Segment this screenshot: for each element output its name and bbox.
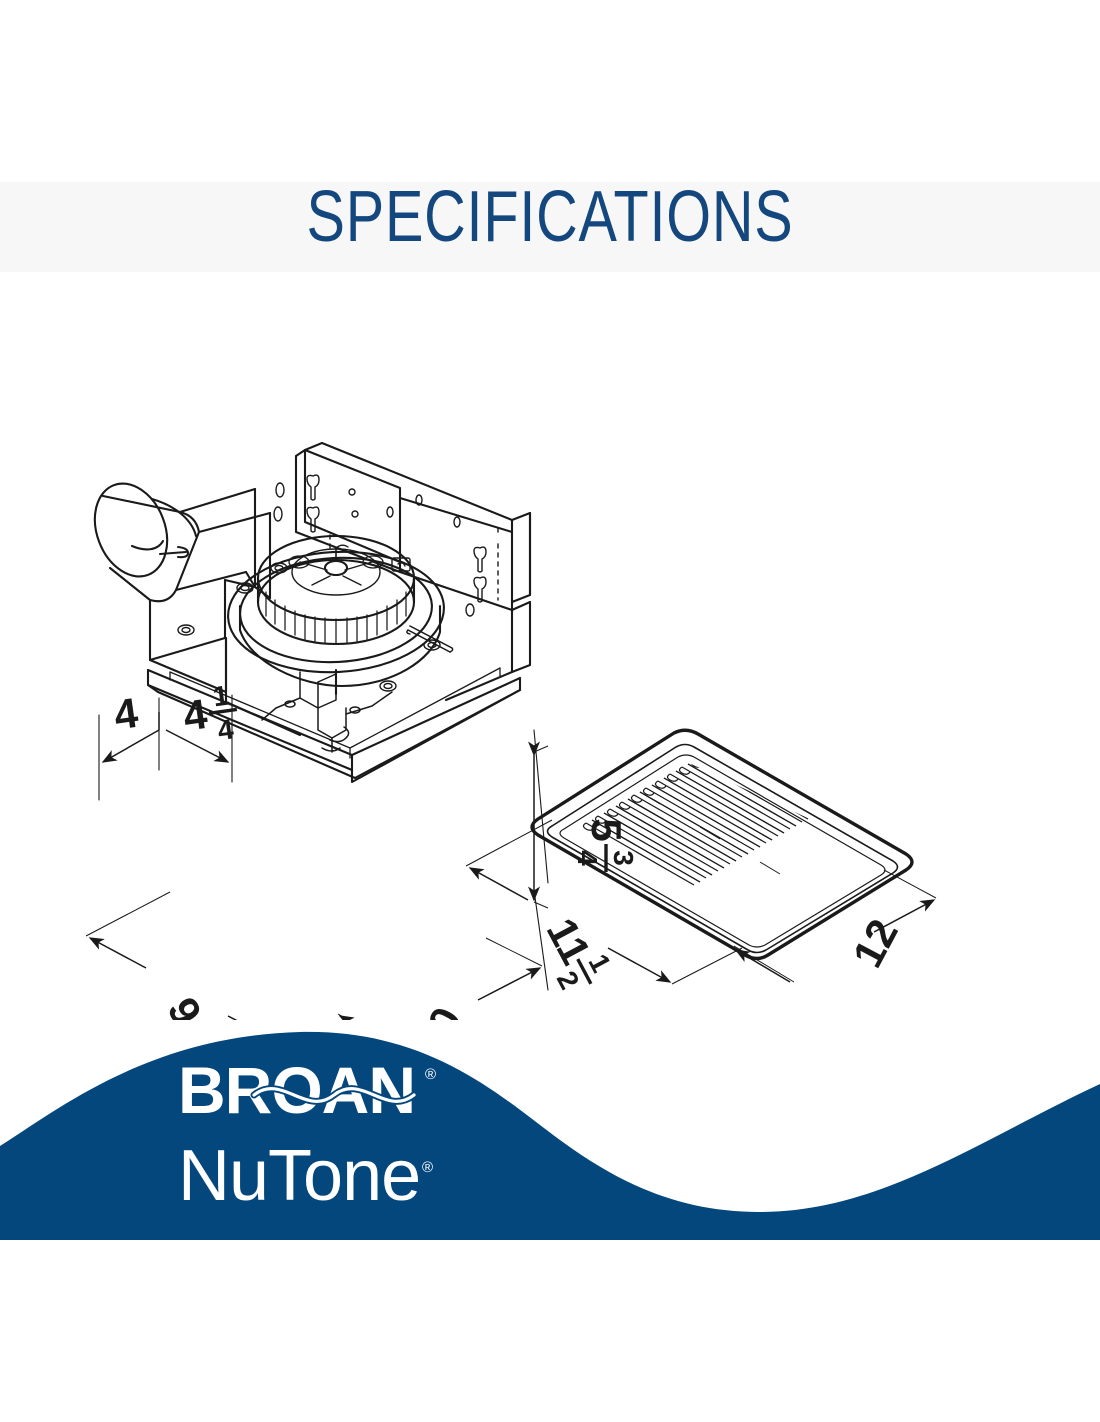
dim-den-duct-width: 4 [216, 713, 236, 746]
grille-drawing [532, 730, 912, 958]
dim-label-duct-offset: 4 [111, 689, 141, 739]
blower-wheel [258, 536, 414, 644]
fan-dimension-lines [86, 712, 548, 1020]
fan-unit-drawing [82, 443, 548, 990]
dim-num-duct-width: 1 [211, 680, 231, 713]
technical-drawing: 4 4 1 4 5 3 4 9 1 4 [0, 300, 1100, 1020]
fan-extension-lines [99, 695, 548, 990]
dim-label-grille-depth: 11 1 2 [528, 906, 620, 999]
dim-den-grille-depth: 2 [551, 966, 586, 994]
duct-collar [82, 473, 199, 601]
housing-holes [178, 483, 474, 691]
dim-num-housing-height: 3 [608, 850, 639, 866]
dim-whole-duct-width: 4 [180, 690, 210, 740]
dim-label-grille-width: 12 [843, 912, 906, 975]
footer-wave-shape [0, 1032, 1100, 1240]
grille-dimension-labels: 11 1 2 12 [528, 906, 907, 999]
page-title: SPECIFICATIONS [110, 176, 990, 258]
dim-label-housing-height: 5 3 4 [572, 818, 639, 872]
keyhole-slots [307, 475, 498, 602]
specification-sheet: SPECIFICATIONS [0, 0, 1100, 1422]
brand-footer [0, 1000, 1100, 1240]
